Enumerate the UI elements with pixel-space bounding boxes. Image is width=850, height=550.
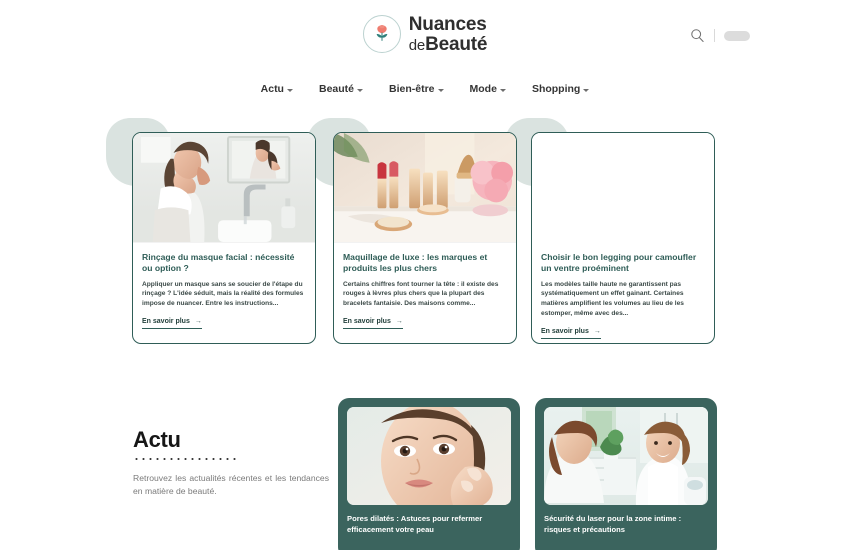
featured-cards-row: Rinçage du masque facial : nécessité ou …	[106, 118, 746, 350]
nav-item-bien-etre[interactable]: Bien-être	[389, 83, 444, 95]
article-card[interactable]: Choisir le bon legging pour camoufler un…	[531, 132, 715, 344]
card-excerpt: Les modèles taille haute ne garantissent…	[541, 280, 705, 319]
arrow-right-icon: →	[396, 318, 403, 325]
card-title: Rinçage du masque facial : nécessité ou …	[142, 252, 306, 275]
actu-section-intro: Actu Retrouvez les actualités récentes e…	[133, 428, 329, 499]
card-body: Choisir le bon legging pour camoufler un…	[532, 243, 714, 339]
featured-card-container-2: Maquillage de luxe : les marques et prod…	[333, 132, 517, 350]
article-card[interactable]: Maquillage de luxe : les marques et prod…	[333, 132, 517, 344]
two-women-clinic-consultation-image	[544, 407, 708, 505]
logo-line-2: deBeauté	[409, 35, 487, 54]
search-icon[interactable]	[690, 28, 705, 43]
article-card[interactable]: Rinçage du masque facial : nécessité ou …	[132, 132, 316, 344]
nav-item-shopping[interactable]: Shopping	[532, 83, 589, 95]
chevron-down-icon	[438, 89, 444, 92]
logo-de-text: de	[409, 37, 425, 54]
chevron-down-icon	[500, 89, 506, 92]
featured-card-container-1: Rinçage du masque facial : nécessité ou …	[132, 132, 316, 350]
actu-article-card[interactable]: Sécurité du laser pour la zone intime : …	[535, 398, 717, 550]
card-excerpt: Certains chiffres font tourner la tête :…	[343, 280, 507, 309]
woman-washing-face-bathroom-image	[133, 133, 315, 243]
chevron-down-icon	[583, 89, 589, 92]
dotted-underline-decoration	[133, 457, 237, 461]
card-image-placeholder	[532, 133, 714, 243]
read-more-link[interactable]: En savoir plus→	[541, 328, 601, 339]
card-title: Choisir le bon legging pour camoufler un…	[541, 252, 705, 275]
logo-line-1: Nuances	[409, 15, 487, 34]
card-body: Maquillage de luxe : les marques et prod…	[334, 243, 516, 329]
nav-label-shopping: Shopping	[532, 83, 580, 95]
nav-item-mode[interactable]: Mode	[470, 83, 506, 95]
site-logo[interactable]: Nuances deBeauté	[363, 15, 487, 54]
actu-article-card[interactable]: Pores dilatés : Astuces pour refermer ef…	[338, 398, 520, 550]
actu-section-description: Retrouvez les actualités récentes et les…	[133, 472, 329, 499]
nav-label-mode: Mode	[470, 83, 497, 95]
nav-item-beaute[interactable]: Beauté	[319, 83, 363, 95]
nav-label-beaute: Beauté	[319, 83, 354, 95]
featured-card-container-3: Choisir le bon legging pour camoufler un…	[531, 132, 715, 350]
site-header: Nuances deBeauté	[0, 0, 850, 68]
header-divider	[714, 29, 715, 42]
actu-card-title: Sécurité du laser pour la zone intime : …	[544, 514, 708, 536]
card-body: Rinçage du masque facial : nécessité ou …	[133, 243, 315, 329]
card-title: Maquillage de luxe : les marques et prod…	[343, 252, 507, 275]
chevron-down-icon	[357, 89, 363, 92]
card-excerpt: Appliquer un masque sans se soucier de l…	[142, 280, 306, 309]
read-more-label: En savoir plus	[541, 328, 589, 335]
logo-beaute-text: Beauté	[425, 34, 487, 55]
read-more-label: En savoir plus	[343, 318, 391, 325]
actu-section-title: Actu	[133, 428, 329, 451]
header-actions	[690, 28, 750, 43]
read-more-link[interactable]: En savoir plus→	[343, 318, 403, 329]
read-more-label: En savoir plus	[142, 318, 190, 325]
woman-face-closeup-skin-image	[347, 407, 511, 505]
actu-card-title: Pores dilatés : Astuces pour refermer ef…	[347, 514, 511, 536]
page-root: Nuances deBeauté Actu Beauté Bien-	[0, 0, 850, 550]
arrow-right-icon: →	[195, 318, 202, 325]
nav-item-actu[interactable]: Actu	[261, 83, 293, 95]
arrow-right-icon: →	[594, 328, 601, 335]
nav-label-bien-etre: Bien-être	[389, 83, 435, 95]
luxury-makeup-products-marble-image	[334, 133, 516, 243]
chevron-down-icon	[287, 89, 293, 92]
account-pill-button[interactable]	[724, 31, 750, 41]
logo-wordmark: Nuances deBeauté	[409, 15, 487, 54]
nav-label-actu: Actu	[261, 83, 284, 95]
main-navigation: Actu Beauté Bien-être Mode Shopping	[0, 72, 850, 106]
tulip-flower-icon	[363, 15, 401, 53]
read-more-link[interactable]: En savoir plus→	[142, 318, 202, 329]
